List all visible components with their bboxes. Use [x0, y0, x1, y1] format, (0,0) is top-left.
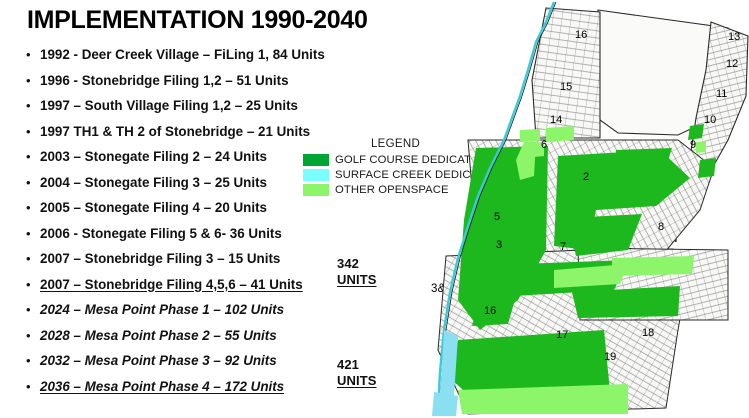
planned-units-count: 421	[337, 357, 377, 373]
list-item: • 2007 – Stonebridge Filing 3 – 15 Units	[26, 248, 346, 274]
list-item: • 2036 – Mesa Point Phase 4 – 172 Units	[26, 376, 346, 402]
list-item: • 1992 - Deer Creek Village – FiLing 1, …	[26, 44, 346, 70]
parcel-label-9: 9	[690, 139, 696, 151]
parcel-label-15: 15	[560, 81, 572, 93]
list-item: • 1997 TH1 & TH 2 of Stonebridge – 21 Un…	[26, 121, 346, 147]
list-item: • 2024 – Mesa Point Phase 1 – 102 Units	[26, 299, 346, 325]
bullet-dot-icon: •	[26, 376, 40, 397]
implementation-bullet-list: • 1992 - Deer Creek Village – FiLing 1, …	[26, 44, 346, 401]
parcel-label-19: 19	[604, 351, 616, 363]
list-item-label: 2005 – Stonegate Filing 4 – 20 Units	[40, 197, 267, 218]
list-item: • 2005 – Stonegate Filing 4 – 20 Units	[26, 197, 346, 223]
bullet-dot-icon: •	[26, 70, 40, 91]
legend-swatch-icon	[303, 169, 329, 181]
bullet-dot-icon: •	[26, 121, 40, 142]
list-item-label: 1997 – South Village Filing 1,2 – 25 Uni…	[40, 95, 298, 116]
parcel-label-7: 7	[560, 241, 566, 253]
existing-units-label: UNITS	[337, 272, 377, 288]
parcel-label-3: 3	[496, 239, 502, 251]
bullet-dot-icon: •	[26, 197, 40, 218]
list-item-label: 2003 – Stonegate Filing 2 – 24 Units	[40, 146, 267, 167]
list-item-label: 1997 TH1 & TH 2 of Stonebridge – 21 Unit…	[40, 121, 310, 142]
existing-units-total: 342 UNITS	[337, 256, 377, 288]
bullet-dot-icon: •	[26, 172, 40, 193]
parcel-label-8: 8	[658, 221, 664, 233]
list-item: • 2004 – Stonegate Filing 3 – 25 Units	[26, 172, 346, 198]
legend-swatch-icon	[303, 154, 329, 166]
site-plan-map: 16 15 14 13 12 11 10 9 6 2 5 8 3 7 16 17…	[428, 0, 749, 418]
bullet-dot-icon: •	[26, 274, 40, 295]
page-title: IMPLEMENTATION 1990-2040	[27, 6, 368, 35]
slide-canvas: IMPLEMENTATION 1990-2040 • 1992 - Deer C…	[0, 0, 749, 418]
parcel-label-11: 11	[716, 88, 727, 100]
list-item-label: 1996 - Stonebridge Filing 1,2 – 51 Units	[40, 70, 289, 91]
list-item-label: 2004 – Stonegate Filing 3 – 25 Units	[40, 172, 267, 193]
list-item: • 2003 – Stonegate Filing 2 – 24 Units	[26, 146, 346, 172]
bullet-dot-icon: •	[26, 350, 40, 371]
bullet-dot-icon: •	[26, 248, 40, 269]
bullet-dot-icon: •	[26, 146, 40, 167]
list-item: • 2032 – Mesa Point Phase 3 – 92 Units	[26, 350, 346, 376]
list-item-label: 2024 – Mesa Point Phase 1 – 102 Units	[40, 299, 284, 320]
parcel-label-17: 17	[556, 329, 568, 341]
bullet-dot-icon: •	[26, 95, 40, 116]
parcel-label-6: 6	[541, 139, 547, 151]
legend-swatch-icon	[303, 184, 329, 196]
parcel-label-14: 14	[550, 114, 562, 126]
list-item-label: 2006 - Stonegate Filing 5 & 6- 36 Units	[40, 223, 282, 244]
list-item-label: 1992 - Deer Creek Village – FiLing 1, 84…	[40, 44, 325, 65]
bullet-dot-icon: •	[26, 44, 40, 65]
list-item-label: 2007 – Stonebridge Filing 3 – 15 Units	[40, 248, 280, 269]
parcel-label-2: 2	[583, 171, 589, 183]
list-item: • 1996 - Stonebridge Filing 1,2 – 51 Uni…	[26, 70, 346, 96]
parcel-label-10: 10	[704, 114, 716, 126]
parcel-label-16: 16	[575, 29, 587, 41]
parcel-label-16-south: 16	[484, 305, 496, 317]
list-item: • 2006 - Stonegate Filing 5 & 6- 36 Unit…	[26, 223, 346, 249]
list-item-label: 2007 – Stonebridge Filing 4,5,6 – 41 Uni…	[40, 274, 303, 295]
parcel-label-12: 12	[726, 58, 738, 70]
existing-units-count: 342	[337, 256, 377, 272]
list-item: • 1997 – South Village Filing 1,2 – 25 U…	[26, 95, 346, 121]
bullet-dot-icon: •	[26, 325, 40, 346]
planned-units-total: 421 UNITS	[337, 357, 377, 389]
list-item-label: 2032 – Mesa Point Phase 3 – 92 Units	[40, 350, 277, 371]
parcel-label-18: 18	[642, 327, 654, 339]
parcel-label-13: 13	[728, 31, 740, 43]
list-item: • 2007 – Stonebridge Filing 4,5,6 – 41 U…	[26, 274, 346, 300]
list-item-label: 2028 – Mesa Point Phase 2 – 55 Units	[40, 325, 277, 346]
list-item: • 2028 – Mesa Point Phase 2 – 55 Units	[26, 325, 346, 351]
bullet-dot-icon: •	[26, 223, 40, 244]
bullet-dot-icon: •	[26, 299, 40, 320]
planned-units-label: UNITS	[337, 373, 377, 389]
list-item-label: 2036 – Mesa Point Phase 4 – 172 Units	[40, 376, 284, 397]
parcel-label-5: 5	[494, 211, 500, 223]
